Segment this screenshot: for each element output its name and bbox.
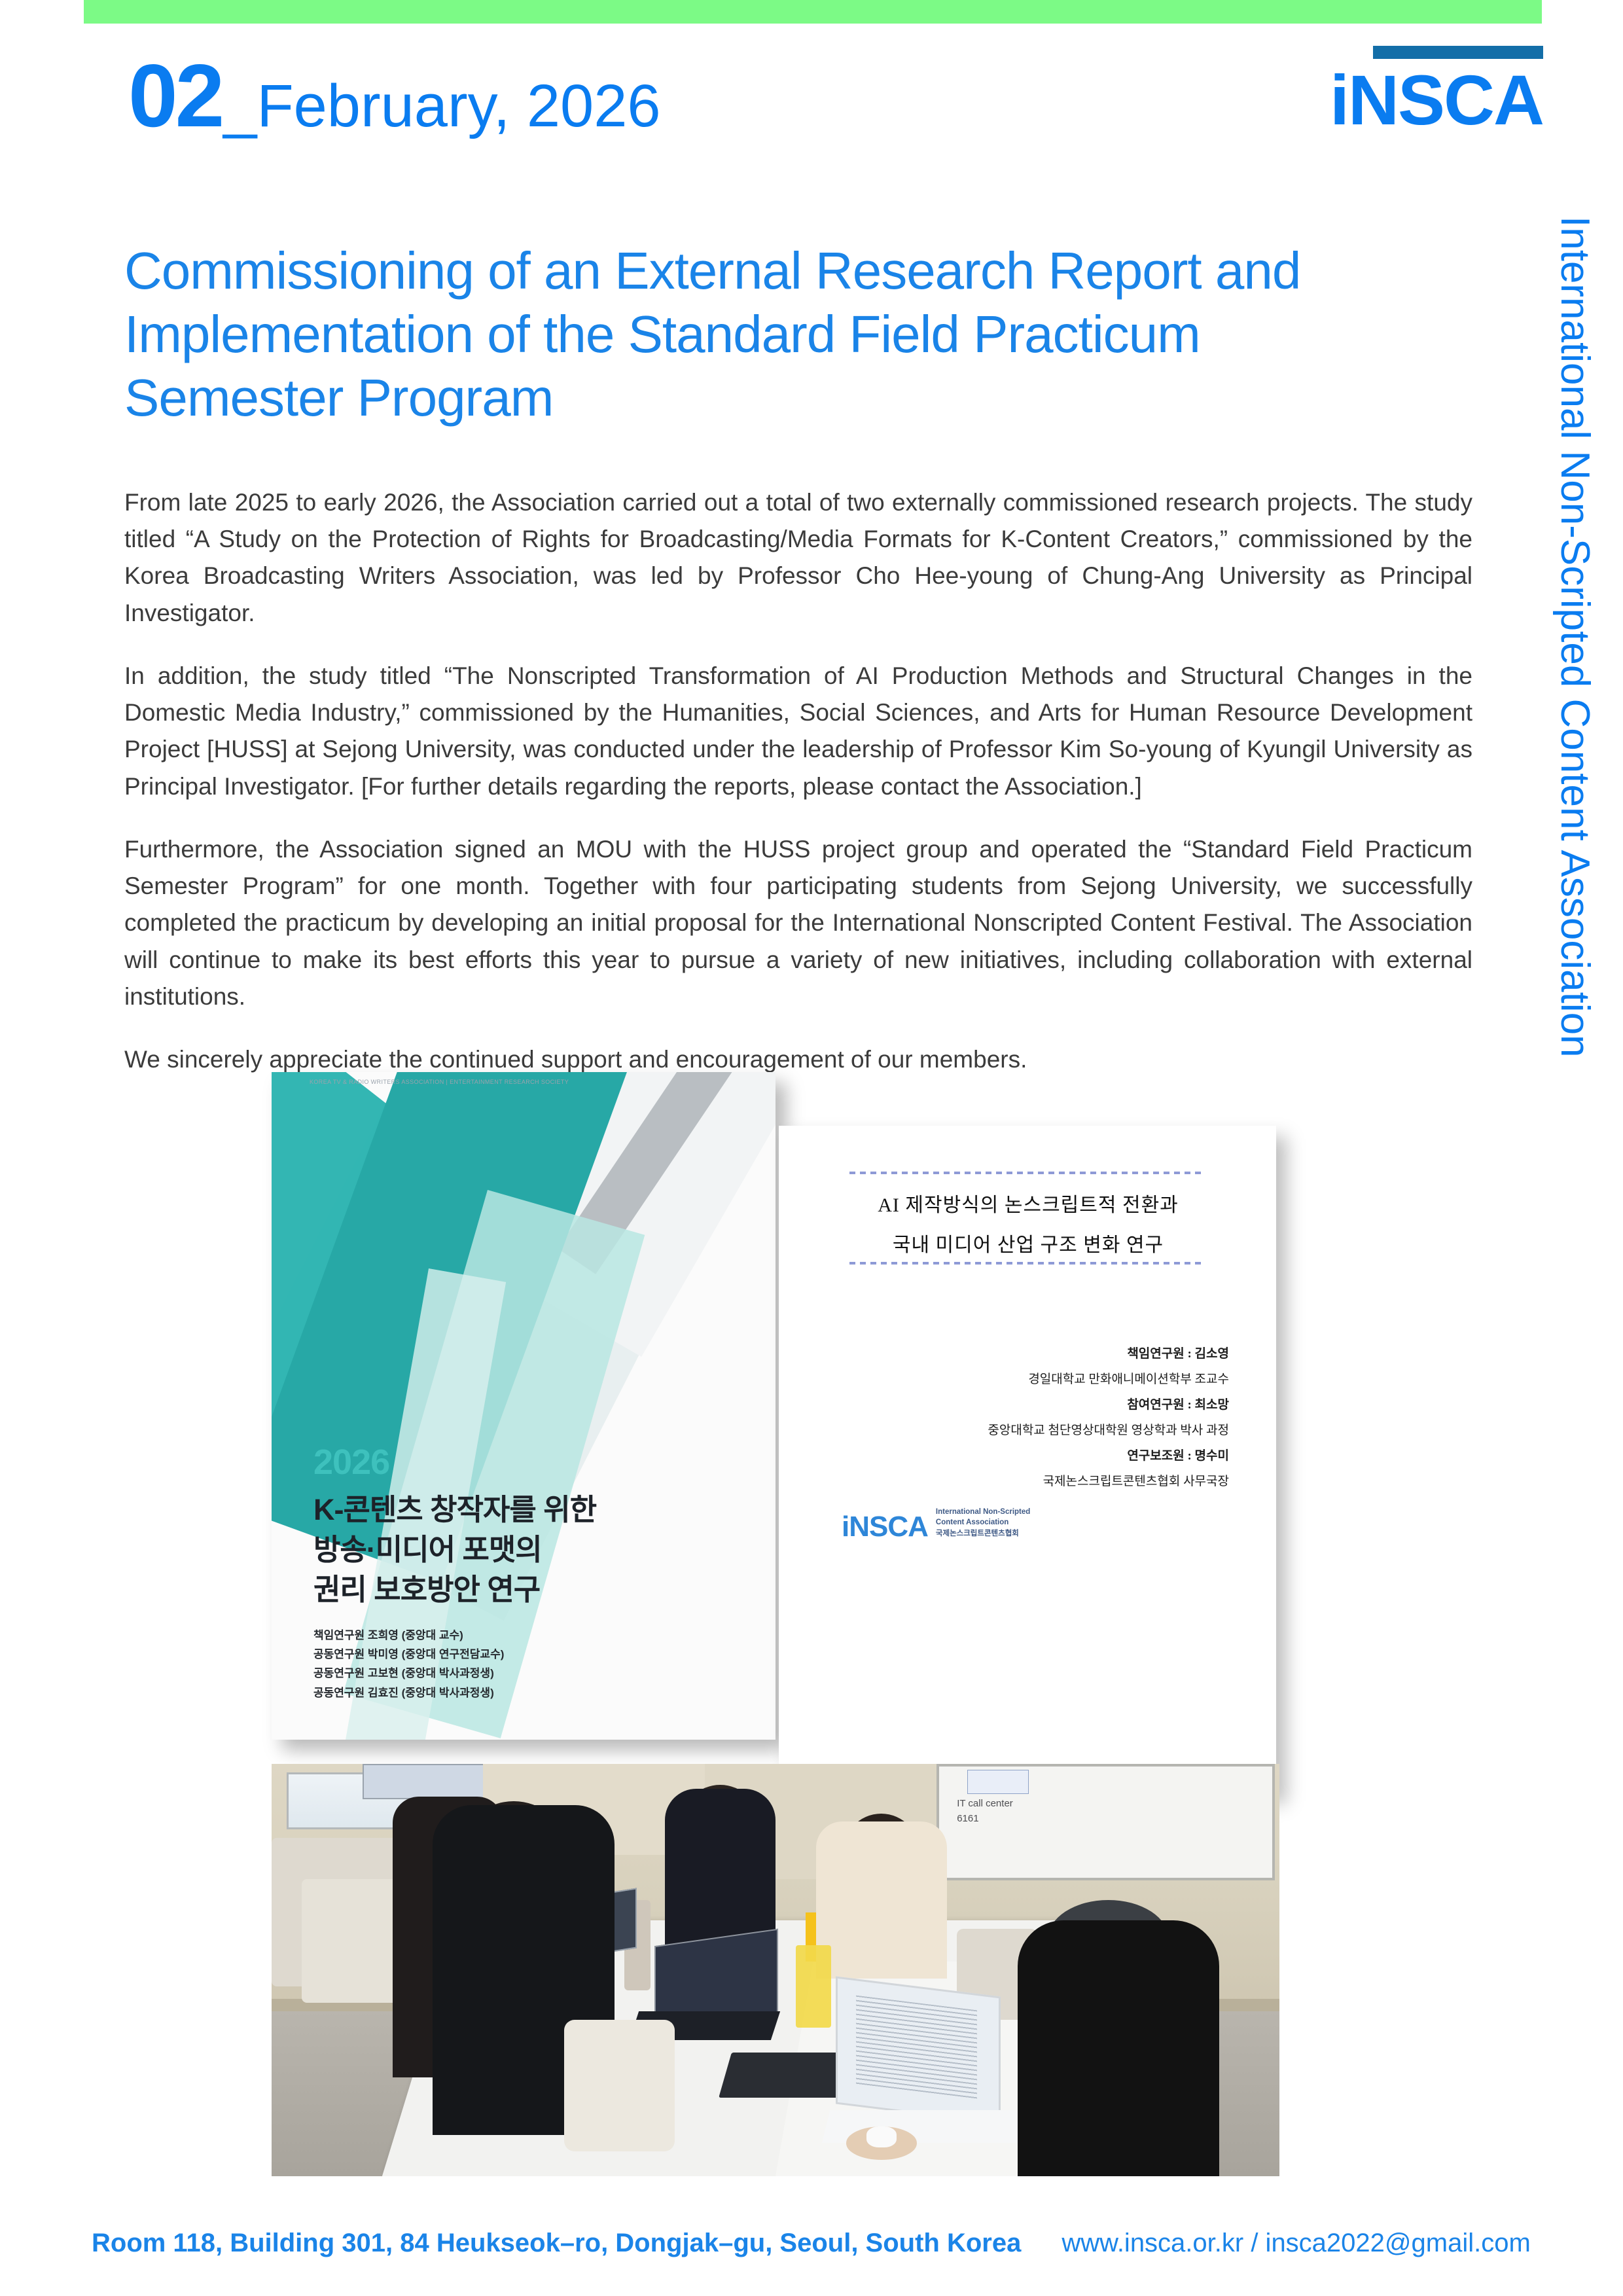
insca-logo: iNSCA (1330, 46, 1543, 137)
photo-whiteboard-notice (967, 1770, 1029, 1794)
report-cover-image-2: AI 제작방식의 논스크립트적 전환과 국내 미디어 산업 구조 변화 연구 책… (779, 1126, 1276, 1793)
cover2-credit-role: 참여연구원 : 최소망 (863, 1393, 1229, 1418)
photo-whiteboard-text: IT call center 6161 (957, 1797, 1013, 1826)
cover2-credit-role: 연구보조원 : 명수미 (863, 1444, 1229, 1469)
issue-header: 02 _February, 2026 (128, 51, 661, 140)
photo-display-screen (363, 1764, 486, 1799)
cover2-insca-logo: iNSCA International Non-Scripted Content… (842, 1507, 1030, 1541)
practicum-photo: IT call center 6161 (272, 1764, 1279, 2176)
insca-wordmark: iNSCA (1330, 63, 1543, 137)
cover2-dashed-rule (849, 1262, 1203, 1265)
cover2-credits: 책임연구원 : 김소영 경일대학교 만화애니메이션학부 조교수 참여연구원 : … (863, 1342, 1229, 1495)
cover2-credit-affil: 국제논스크립트콘텐츠협회 사무국장 (863, 1469, 1229, 1495)
page-title: Commissioning of an External Research Re… (124, 240, 1407, 429)
cover2-insca-wordmark: iNSCA (842, 1513, 928, 1541)
cover1-title: K-콘텐츠 창작자를 위한 방송·미디어 포맷의 권리 보호방안 연구 (313, 1490, 732, 1610)
vertical-association-title: International Non-Scripted Content Assoc… (1552, 216, 1598, 1058)
cover2-dashed-rule (849, 1172, 1203, 1174)
issue-number: 02 (128, 51, 222, 140)
photo-chair (564, 2020, 675, 2152)
cover1-year: 2026 (313, 1442, 389, 1482)
photo-person (665, 1789, 776, 1945)
page-footer: Room 118, Building 301, 84 Heukseok–ro, … (0, 2229, 1623, 2258)
body-paragraph: Furthermore, the Association signed an M… (124, 831, 1472, 1015)
issue-date: _February, 2026 (223, 76, 660, 136)
photo-laptop-screen-text (856, 1996, 977, 2101)
top-green-bar (84, 0, 1542, 24)
photo-mouse (866, 2126, 897, 2147)
cover2-logo-sub-line2: Content Association (936, 1518, 1008, 1526)
cover2-insca-sublines: International Non-Scripted Content Assoc… (936, 1507, 1030, 1541)
body-paragraph: In addition, the study titled “The Nonsc… (124, 658, 1472, 805)
cover2-credit-role: 책임연구원 : 김소영 (863, 1342, 1229, 1367)
photo-person (1018, 1920, 1219, 2176)
photo-person (816, 1821, 947, 1978)
photo-drink-cup (796, 1945, 831, 2028)
photo-keyboard (719, 2053, 853, 2098)
photo-stacked-chair (302, 1879, 402, 2003)
body-paragraph: From late 2025 to early 2026, the Associ… (124, 484, 1472, 632)
cover2-credit-affil: 경일대학교 만화애니메이션학부 조교수 (863, 1367, 1229, 1393)
cover2-logo-sub-line3: 국제논스크립트콘텐츠협회 (936, 1530, 1019, 1537)
article-body: From late 2025 to early 2026, the Associ… (124, 484, 1472, 1104)
report-cover-image-1: KOREA TV & RADIO WRITERS ASSOCIATION | E… (272, 1072, 776, 1740)
newsletter-page: 02 _February, 2026 iNSCA International N… (0, 0, 1623, 2296)
cover2-logo-sub-line1: International Non-Scripted (936, 1508, 1030, 1516)
footer-website-email[interactable]: www.insca.or.kr / insca2022@gmail.com (1061, 2229, 1530, 2258)
footer-address: Room 118, Building 301, 84 Heukseok–ro, … (92, 2229, 1021, 2258)
cover1-credits: 책임연구원 조희영 (중앙대 교수) 공동연구원 박미영 (중앙대 연구전담교수… (313, 1626, 732, 1702)
cover1-publisher-line: KOREA TV & RADIO WRITERS ASSOCIATION | E… (310, 1079, 569, 1085)
cover2-title: AI 제작방식의 논스크립트적 전환과 국내 미디어 산업 구조 변화 연구 (835, 1186, 1221, 1265)
insca-logo-rule (1373, 46, 1543, 59)
cover2-credit-affil: 중앙대학교 첨단영상대학원 영상학과 박사 과정 (863, 1418, 1229, 1444)
media-gallery: KOREA TV & RADIO WRITERS ASSOCIATION | E… (0, 1060, 1623, 2173)
